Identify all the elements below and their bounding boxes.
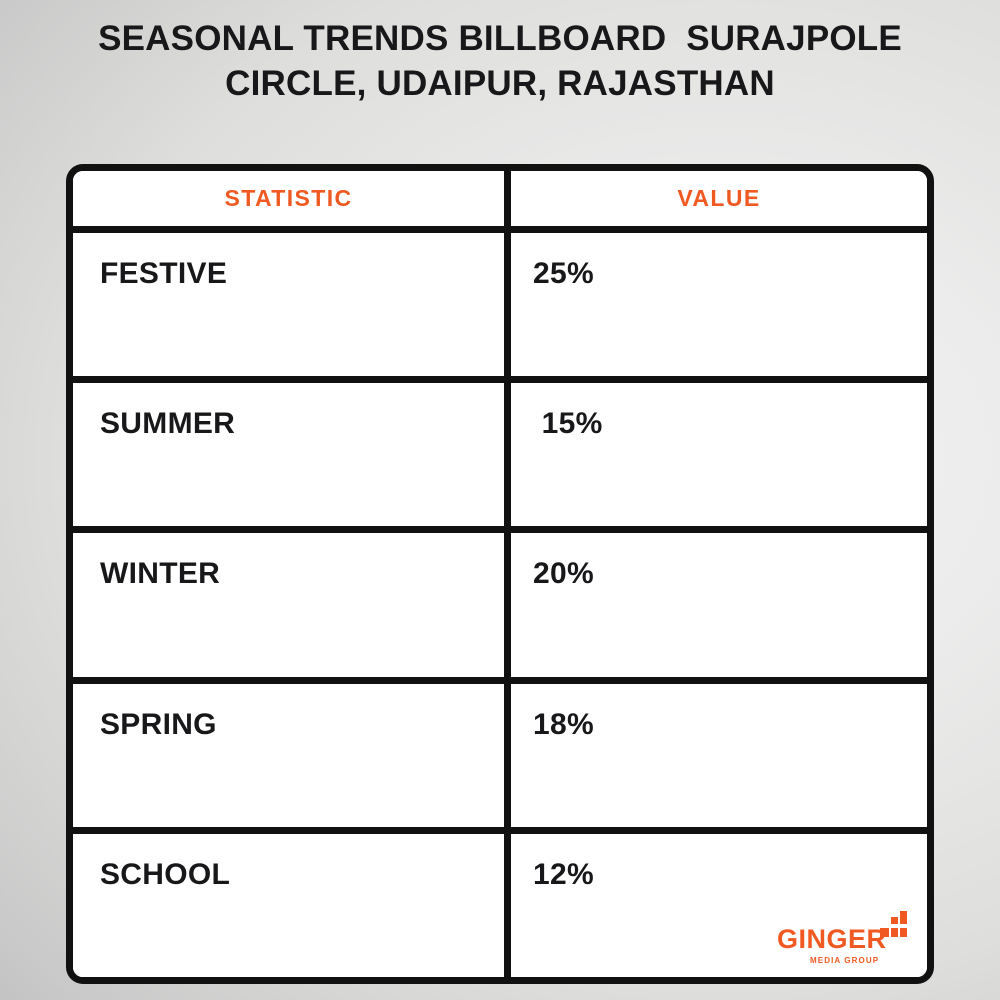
table-row: WINTER 20%: [73, 526, 927, 676]
table-header-row: STATISTIC VALUE: [73, 171, 927, 226]
table-row: SCHOOL 12% GINGER MEDIA GROUP: [73, 827, 927, 977]
column-header-statistic-label: STATISTIC: [224, 185, 352, 212]
table-cell-value: 15%: [504, 383, 927, 526]
table-cell-value: 18%: [504, 684, 927, 827]
ascending-bars-mark-icon: [880, 911, 907, 937]
statistic-label: WINTER: [100, 557, 220, 590]
poster-canvas: SEASONAL TRENDS BILLBOARD SURAJPOLE CIRC…: [0, 0, 1000, 1000]
table-cell-value: 25%: [504, 233, 927, 376]
value-label: 12%: [533, 858, 594, 891]
table-row: FESTIVE 25%: [73, 226, 927, 376]
table-header-cell-statistic: STATISTIC: [73, 171, 504, 226]
table-row: SUMMER 15%: [73, 376, 927, 526]
value-label: 20%: [533, 557, 594, 590]
brand-wordmark: GINGER: [777, 926, 887, 953]
table-cell-statistic: SCHOOL: [73, 834, 504, 977]
table-cell-statistic: WINTER: [73, 533, 504, 676]
table-cell-statistic: FESTIVE: [73, 233, 504, 376]
ginger-media-group-logo: GINGER MEDIA GROUP: [777, 911, 909, 967]
value-label: 15%: [533, 407, 603, 440]
table-cell-value: 20%: [504, 533, 927, 676]
table-cell-statistic: SUMMER: [73, 383, 504, 526]
table-header-cell-value: VALUE: [504, 171, 927, 226]
column-header-value-label: VALUE: [677, 185, 760, 212]
value-label: 18%: [533, 708, 594, 741]
page-title-line-2: CIRCLE, UDAIPUR, RAJASTHAN: [50, 61, 950, 106]
statistics-table: STATISTIC VALUE FESTIVE 25% SUMMER 15%: [66, 164, 934, 984]
table-cell-statistic: SPRING: [73, 684, 504, 827]
statistic-label: FESTIVE: [100, 257, 227, 290]
statistic-label: SPRING: [100, 708, 217, 741]
page-title-line-1: SEASONAL TRENDS BILLBOARD SURAJPOLE: [50, 16, 950, 61]
table-row: SPRING 18%: [73, 677, 927, 827]
brand-tagline: MEDIA GROUP: [810, 956, 879, 965]
table-cell-value: 12% GINGER MEDIA GROUP: [504, 834, 927, 977]
statistic-label: SUMMER: [100, 407, 235, 440]
value-label: 25%: [533, 257, 594, 290]
page-title: SEASONAL TRENDS BILLBOARD SURAJPOLE CIRC…: [50, 16, 950, 106]
statistic-label: SCHOOL: [100, 858, 230, 891]
